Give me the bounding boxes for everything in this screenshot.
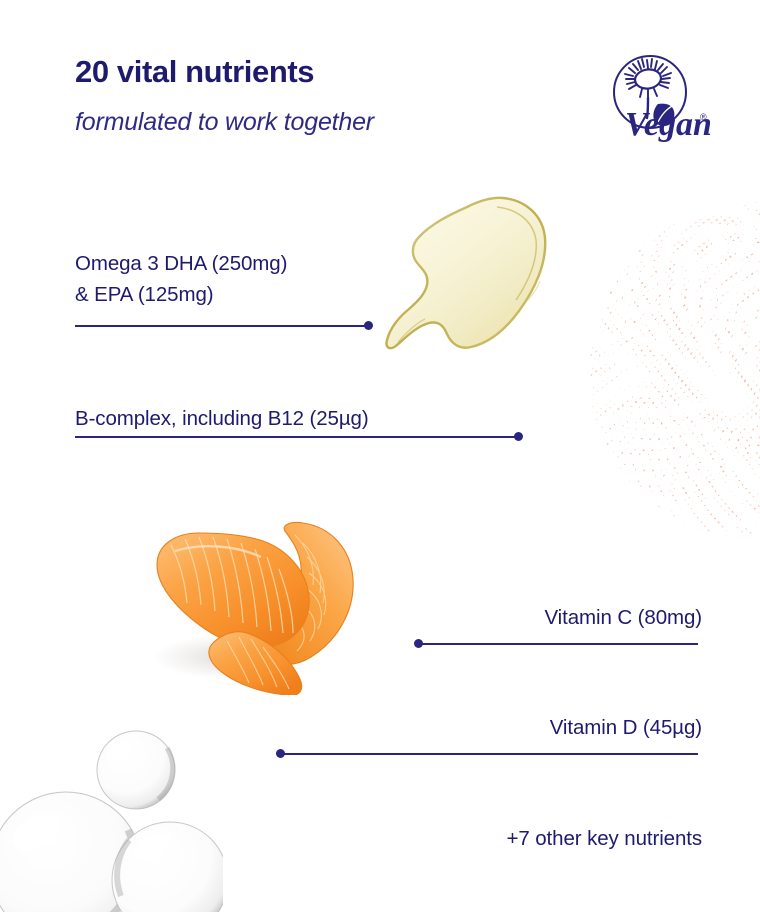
nutrient-label-vitamin-d: Vitamin D (45µg) — [550, 712, 702, 743]
registered-symbol: ® — [700, 112, 707, 122]
connector-rule-vitamin-d — [280, 753, 698, 755]
nutrient-label-omega-3: Omega 3 DHA (250mg) & EPA (125mg) — [75, 248, 287, 310]
vegan-society-trademark: Vegan ® — [598, 52, 710, 150]
nutrient-line-vitamin-c-1: Vitamin C (80mg) — [544, 602, 702, 633]
powder-speckle-circle — [588, 202, 760, 538]
water-droplets — [0, 728, 223, 912]
connector-rule-omega-3 — [75, 325, 368, 327]
nutrient-label-b-complex: B-complex, including B12 (25µg) — [75, 403, 369, 434]
page-subtitle: formulated to work together — [75, 108, 374, 137]
nutrient-line-omega-3-1: Omega 3 DHA (250mg) — [75, 248, 287, 279]
connector-rule-vitamin-c — [418, 643, 698, 645]
vegan-wordmark: Vegan ® — [625, 106, 710, 143]
omega-oil-swatch — [385, 193, 550, 358]
nutrient-line-omega-3-2: & EPA (125mg) — [75, 279, 287, 310]
connector-dot-b-complex — [514, 432, 523, 441]
connector-dot-vitamin-c — [414, 639, 423, 648]
connector-dot-omega-3 — [364, 321, 373, 330]
nutrient-line-b-complex-1: B-complex, including B12 (25µg) — [75, 403, 369, 434]
nutrient-infographic: Vegan ® 20 vital nutrients formulated to… — [0, 0, 760, 912]
vegan-wordmark-text: Vegan — [625, 106, 710, 143]
nutrient-line-vitamin-d-1: Vitamin D (45µg) — [550, 712, 702, 743]
nutrient-label-vitamin-c: Vitamin C (80mg) — [544, 602, 702, 633]
orange-segments — [135, 505, 380, 695]
connector-dot-vitamin-d — [276, 749, 285, 758]
connector-rule-b-complex — [75, 436, 518, 438]
page-title: 20 vital nutrients — [75, 54, 314, 90]
footnote-other-nutrients: +7 other key nutrients — [506, 823, 702, 854]
